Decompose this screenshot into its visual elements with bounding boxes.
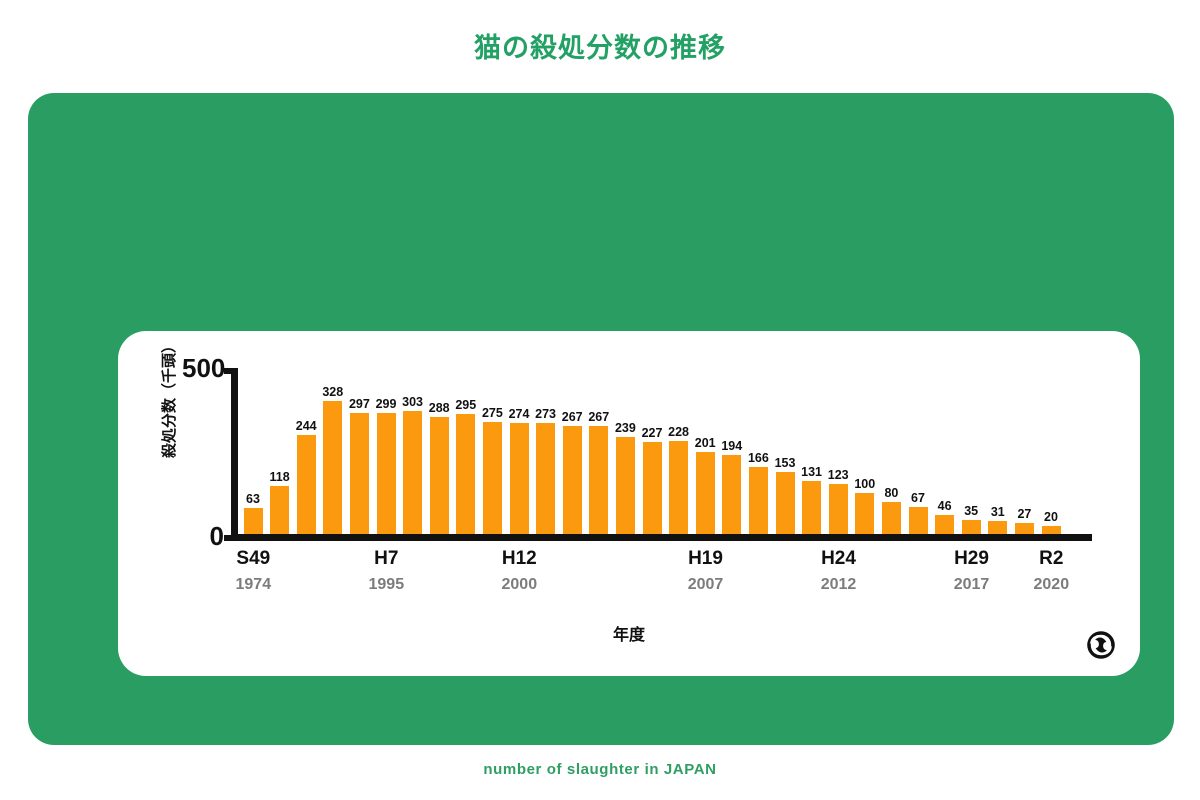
x-tick-year-label: 2007 <box>661 572 751 598</box>
x-tick-era-label: S49 <box>208 546 298 572</box>
bar[interactable] <box>643 442 662 534</box>
bar-slot: 123 <box>825 331 852 534</box>
bar-value-label: 63 <box>235 492 271 506</box>
bar-value-label: 20 <box>1033 510 1069 524</box>
x-tick-group: H242012 <box>794 546 884 598</box>
bar[interactable] <box>536 423 555 534</box>
bar-slot: 194 <box>719 331 746 534</box>
x-tick-era-label: H19 <box>661 546 751 572</box>
bar[interactable] <box>749 467 768 534</box>
bar-slot: 328 <box>320 331 347 534</box>
x-tick-year-label: 2020 <box>1006 572 1096 598</box>
bar-slot: 275 <box>479 331 506 534</box>
bar[interactable] <box>377 413 396 534</box>
recycle-circle-icon <box>1086 630 1116 660</box>
x-tick-group: H71995 <box>341 546 431 598</box>
bar[interactable] <box>270 486 289 534</box>
bar[interactable] <box>456 414 475 534</box>
bar[interactable] <box>589 426 608 534</box>
bar-slot: 303 <box>400 331 427 534</box>
bar[interactable] <box>909 507 928 534</box>
bar-slot: 166 <box>745 331 772 534</box>
chart-card: 500 0 殺処分数（千頭） 6311824432829729930328829… <box>118 331 1140 676</box>
bar[interactable] <box>696 452 715 534</box>
bar[interactable] <box>935 515 954 534</box>
x-tick-group: H122000 <box>474 546 564 598</box>
bar-series: 6311824432829729930328829527527427326726… <box>240 331 1090 534</box>
x-tick-era-label: H29 <box>927 546 1017 572</box>
bar[interactable] <box>1015 523 1034 534</box>
y-tick-mark-500 <box>224 368 238 374</box>
x-tick-group: H292017 <box>927 546 1017 598</box>
bar-slot: 274 <box>506 331 533 534</box>
bar[interactable] <box>776 472 795 534</box>
bar-slot: 273 <box>533 331 560 534</box>
bar-slot: 201 <box>692 331 719 534</box>
x-tick-era-label: R2 <box>1006 546 1096 572</box>
bar[interactable] <box>244 508 263 534</box>
green-background-panel: 500 0 殺処分数（千頭） 6311824432829729930328829… <box>28 93 1174 745</box>
bar[interactable] <box>563 426 582 534</box>
bar-slot: 297 <box>346 331 373 534</box>
page-caption: number of slaughter in JAPAN <box>0 761 1200 778</box>
x-tick-era-label: H12 <box>474 546 564 572</box>
bar[interactable] <box>483 422 502 534</box>
bar[interactable] <box>323 401 342 534</box>
x-axis-line <box>231 534 1092 541</box>
x-tick-year-label: 2017 <box>927 572 1017 598</box>
x-tick-group: H192007 <box>661 546 751 598</box>
bar-slot: 31 <box>985 331 1012 534</box>
x-tick-era-label: H7 <box>341 546 431 572</box>
y-tick-label-500: 500 <box>182 353 224 383</box>
x-tick-group: R22020 <box>1006 546 1096 598</box>
bar-slot: 131 <box>799 331 826 534</box>
bar[interactable] <box>297 435 316 534</box>
y-axis-line <box>231 368 238 541</box>
bar[interactable] <box>403 411 422 534</box>
x-tick-year-label: 1995 <box>341 572 431 598</box>
x-tick-year-label: 1974 <box>208 572 298 598</box>
chart-plot-area: 500 0 殺処分数（千頭） 6311824432829729930328829… <box>118 331 1140 676</box>
bar[interactable] <box>802 481 821 534</box>
bar-slot: 35 <box>958 331 985 534</box>
x-tick-group: S491974 <box>208 546 298 598</box>
bar-slot: 100 <box>852 331 879 534</box>
bar-slot: 244 <box>293 331 320 534</box>
bar[interactable] <box>616 437 635 534</box>
page-title: 猫の殺処分数の推移 <box>0 30 1200 66</box>
bar-slot: 63 <box>240 331 267 534</box>
x-tick-year-label: 2012 <box>794 572 884 598</box>
bar[interactable] <box>1042 526 1061 534</box>
bar-slot: 267 <box>559 331 586 534</box>
bar[interactable] <box>882 502 901 534</box>
bar[interactable] <box>829 484 848 534</box>
bar-slot: 153 <box>772 331 799 534</box>
bar[interactable] <box>855 493 874 534</box>
y-axis-title: 殺処分数（千頭） <box>158 313 182 483</box>
bar[interactable] <box>669 441 688 534</box>
bar-value-label: 118 <box>262 470 298 484</box>
bar-slot: 27 <box>1011 331 1038 534</box>
bar-slot: 228 <box>666 331 693 534</box>
bar[interactable] <box>988 521 1007 534</box>
x-axis-tick-labels: S491974H71995H122000H192007H242012H29201… <box>240 546 1100 616</box>
bar[interactable] <box>962 520 981 534</box>
bar-slot: 288 <box>426 331 453 534</box>
bar[interactable] <box>722 455 741 534</box>
bar-slot: 295 <box>453 331 480 534</box>
bar[interactable] <box>430 417 449 534</box>
x-tick-year-label: 2000 <box>474 572 564 598</box>
page-root: 猫の殺処分数の推移 500 0 殺処分数（千頭） 631182443282972… <box>0 0 1200 800</box>
x-tick-era-label: H24 <box>794 546 884 572</box>
bar[interactable] <box>510 423 529 534</box>
bar-value-label: 244 <box>288 419 324 433</box>
x-axis-title: 年度 <box>118 621 1140 645</box>
bar[interactable] <box>350 413 369 534</box>
bar-slot: 299 <box>373 331 400 534</box>
bar-slot: 20 <box>1038 331 1065 534</box>
